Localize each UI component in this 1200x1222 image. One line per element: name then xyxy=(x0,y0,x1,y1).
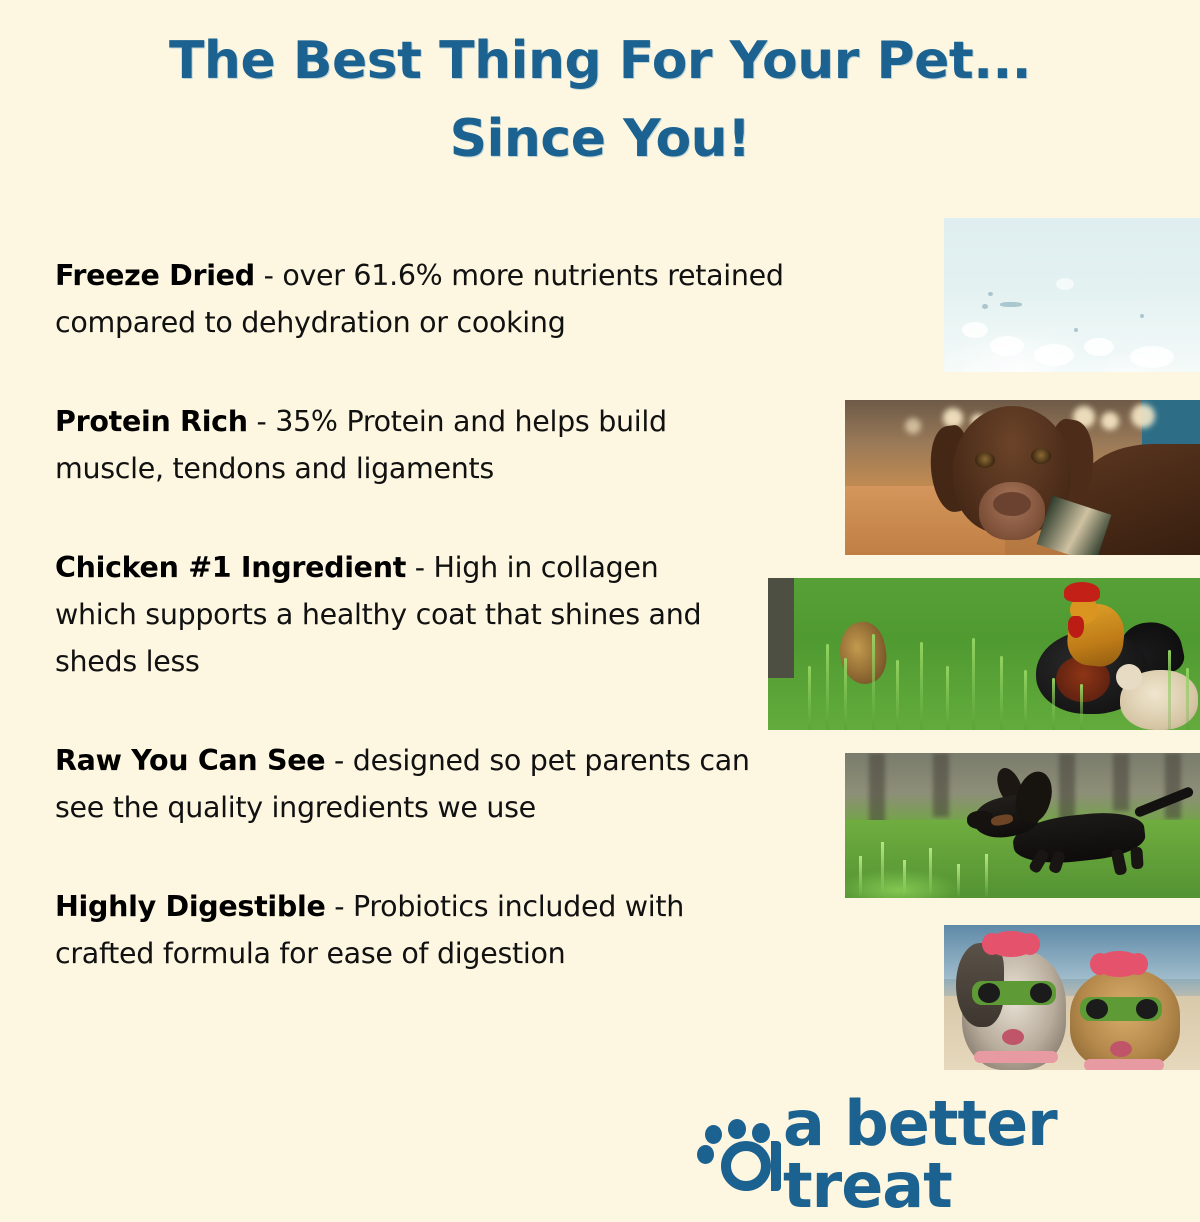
benefit-term: Protein Rich xyxy=(55,405,248,438)
benefit-item: Chicken #1 Ingredient - High in collagen… xyxy=(55,544,735,685)
page-title: The Best Thing For Your Pet... Since You… xyxy=(0,22,1200,178)
benefit-term: Highly Digestible xyxy=(55,890,326,923)
rooster-and-hens-in-grass-photo xyxy=(768,578,1200,730)
benefit-term: Chicken #1 Ingredient xyxy=(55,551,406,584)
headline-line-1: The Best Thing For Your Pet... xyxy=(0,22,1200,100)
brand-name: a better treat xyxy=(783,1093,1200,1217)
benefit-item: Raw You Can See - designed so pet parent… xyxy=(55,737,775,831)
two-dogs-with-bows-and-sunglasses-photo xyxy=(944,925,1200,1070)
headline-line-2: Since You! xyxy=(0,100,1200,178)
benefit-item: Freeze Dried - over 61.6% more nutrients… xyxy=(55,252,870,346)
paw-print-icon xyxy=(695,1119,781,1191)
benefits-list: Freeze Dried - over 61.6% more nutrients… xyxy=(55,252,885,977)
dachshund-leaping-in-grass-photo xyxy=(845,753,1200,898)
benefit-item: Protein Rich - 35% Protein and helps bui… xyxy=(55,398,755,492)
benefit-term: Raw You Can See xyxy=(55,744,325,777)
brand-logo: a better treat xyxy=(695,1114,1200,1196)
frost-ice-crystals-photo xyxy=(944,218,1200,372)
benefit-item: Highly Digestible - Probiotics included … xyxy=(55,883,755,977)
chocolate-labrador-photo xyxy=(845,400,1200,555)
benefit-term: Freeze Dried xyxy=(55,259,255,292)
